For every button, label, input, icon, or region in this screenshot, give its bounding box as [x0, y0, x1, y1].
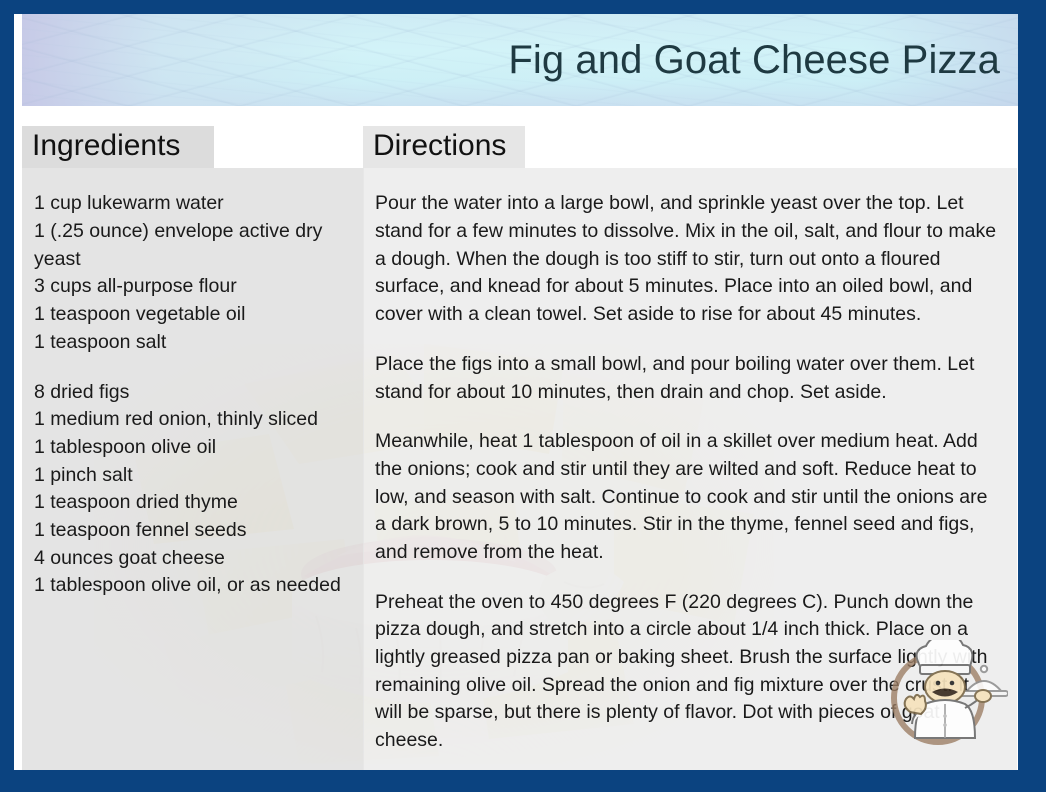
ingredient-item: 1 tablespoon olive oil	[34, 434, 352, 462]
border-right	[1018, 0, 1046, 792]
ingredient-item: 1 pinch salt	[34, 462, 352, 490]
direction-step: Preheat the oven to 450 degrees F (220 d…	[375, 589, 997, 755]
directions-heading: Directions	[373, 130, 515, 162]
ingredient-item: 1 teaspoon dried thyme	[34, 489, 352, 517]
ingredients-column: Ingredients 1 cup lukewarm water 1 (.25 …	[22, 126, 364, 770]
direction-step: Place the figs into a small bowl, and po…	[375, 351, 997, 406]
ingredient-group-separator	[34, 357, 352, 379]
ingredients-heading-tab: Ingredients	[22, 126, 214, 168]
directions-panel: Pour the water into a large bowl, and sp…	[363, 168, 1017, 770]
directions-heading-tab: Directions	[363, 126, 525, 168]
ingredient-item: 8 dried figs	[34, 379, 352, 407]
ingredient-item: 1 tablespoon olive oil, or as needed	[34, 572, 352, 600]
ingredient-group: 8 dried figs 1 medium red onion, thinly …	[34, 379, 352, 601]
border-left	[0, 0, 14, 792]
direction-step: Pour the water into a large bowl, and sp…	[375, 190, 997, 328]
ingredient-item: 1 cup lukewarm water	[34, 190, 352, 218]
card-canvas: Fig and Goat Cheese Pizza	[14, 14, 1018, 770]
ingredients-heading: Ingredients	[32, 130, 204, 162]
ingredient-item: 3 cups all-purpose flour	[34, 273, 352, 301]
recipe-card-page: Fig and Goat Cheese Pizza	[0, 0, 1046, 792]
header-banner: Fig and Goat Cheese Pizza	[22, 14, 1018, 106]
border-top	[0, 0, 1046, 14]
ingredient-item: 1 teaspoon vegetable oil	[34, 301, 352, 329]
ingredient-item: 1 teaspoon fennel seeds	[34, 517, 352, 545]
border-bottom	[0, 770, 1046, 792]
direction-step: Meanwhile, heat 1 tablespoon of oil in a…	[375, 428, 997, 566]
ingredient-item: 4 ounces goat cheese	[34, 545, 352, 573]
page-title: Fig and Goat Cheese Pizza	[508, 38, 1000, 82]
ingredient-group: 1 cup lukewarm water 1 (.25 ounce) envel…	[34, 190, 352, 356]
ingredients-panel: 1 cup lukewarm water 1 (.25 ounce) envel…	[22, 168, 364, 770]
ingredient-item: 1 teaspoon salt	[34, 329, 352, 357]
ingredient-item: 1 medium red onion, thinly sliced	[34, 406, 352, 434]
ingredient-item: 1 (.25 ounce) envelope active dry yeast	[34, 218, 352, 273]
directions-column: Directions Pour the water into a large b…	[363, 126, 1017, 770]
